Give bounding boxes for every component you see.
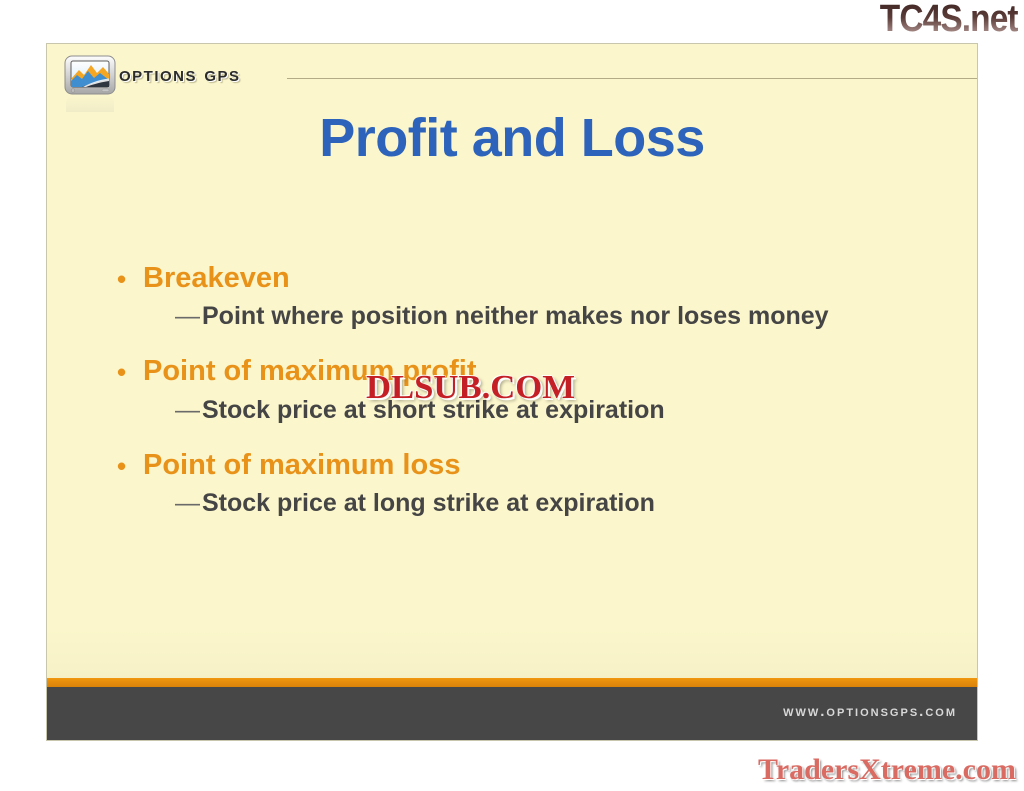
dash-marker-icon: — [175, 489, 202, 517]
footer-accent-bar [47, 678, 977, 687]
bullet-item: • Breakeven [117, 263, 937, 293]
sub-bullet-label: Point where position neither makes nor l… [202, 302, 829, 330]
header-divider [287, 78, 977, 79]
slide-footer: www.OptionsGPS.com [47, 687, 977, 740]
bullet-label: Point of maximum loss [143, 450, 460, 480]
page-title: Profit and Loss [47, 107, 977, 169]
dash-marker-icon: — [175, 396, 202, 424]
bullet-marker-icon: • [117, 450, 143, 479]
slide-header: Options GPS [47, 44, 977, 106]
site-brand-bottom: TradersXtreme.com [758, 753, 1016, 787]
gps-device-icon [64, 54, 116, 96]
site-brand-top: TC4S.net [880, 0, 1018, 41]
brand-name: Options GPS [119, 63, 241, 87]
bullet-marker-icon: • [117, 356, 143, 385]
bullet-label: Breakeven [143, 263, 290, 293]
bullet-item: • Point of maximum loss [117, 450, 937, 480]
sub-bullet-label: Stock price at long strike at expiration [202, 489, 655, 517]
bullet-marker-icon: • [117, 263, 143, 292]
sub-bullet-item: — Point where position neither makes nor… [175, 302, 937, 330]
watermark-dlsub: DLSUB.COM [366, 369, 575, 407]
footer-url: www.OptionsGPS.com [783, 703, 957, 720]
dash-marker-icon: — [175, 302, 202, 330]
sub-bullet-item: — Stock price at long strike at expirati… [175, 489, 937, 517]
